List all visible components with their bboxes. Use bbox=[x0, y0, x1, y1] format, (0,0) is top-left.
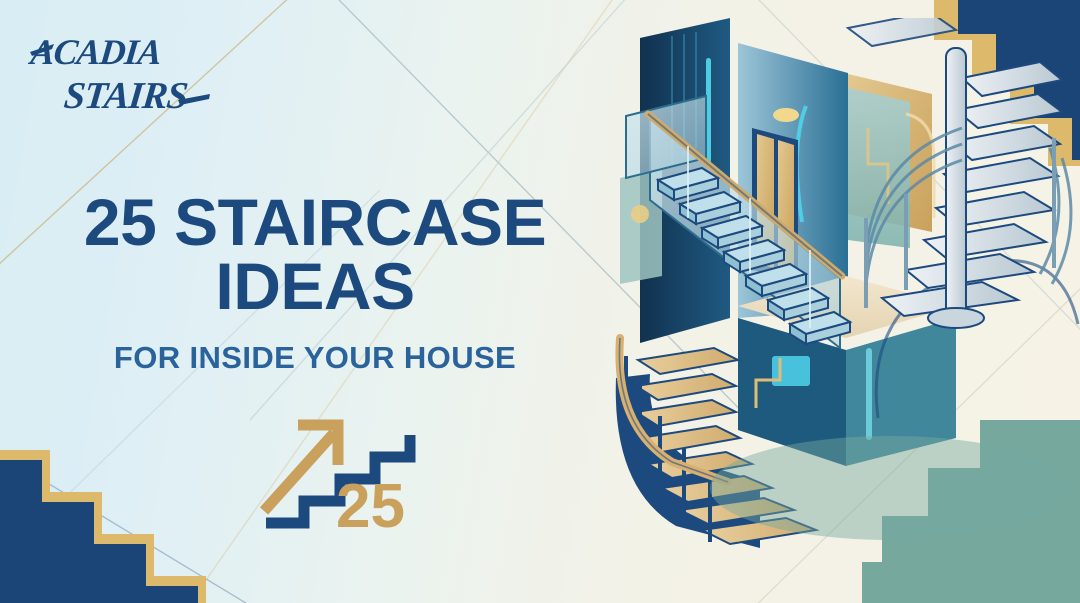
door-light-icon bbox=[631, 205, 649, 223]
headline-line-2: IDEAS bbox=[0, 254, 630, 318]
ceiling-light-icon bbox=[773, 108, 799, 122]
floor-shadow bbox=[710, 436, 1070, 540]
column-base bbox=[928, 308, 984, 328]
headline-line-1: 25 STAIRCASE bbox=[84, 185, 546, 259]
logo-text-acadia: ACADIA bbox=[28, 32, 163, 72]
stairs-stat-icon: 25 bbox=[258, 405, 428, 535]
promo-banner: ACADIA STAIRS 25 STAIRCASE IDEAS FOR INS… bbox=[0, 0, 1080, 603]
headline-block: 25 STAIRCASE IDEAS FOR INSIDE YOUR HOUSE bbox=[0, 190, 630, 376]
staircase-illustration bbox=[610, 18, 1080, 603]
spiral-center-column bbox=[946, 48, 966, 316]
stat-number: 25 bbox=[336, 472, 405, 535]
logo-text-stairs: STAIRS bbox=[62, 75, 189, 114]
neon-strip-vertical-icon bbox=[866, 348, 872, 440]
subtitle: FOR INSIDE YOUR HOUSE bbox=[0, 340, 630, 376]
corner-decor-bottom-left bbox=[0, 430, 238, 603]
brand-logo[interactable]: ACADIA STAIRS bbox=[28, 22, 218, 114]
page-title: 25 STAIRCASE IDEAS bbox=[0, 190, 630, 318]
